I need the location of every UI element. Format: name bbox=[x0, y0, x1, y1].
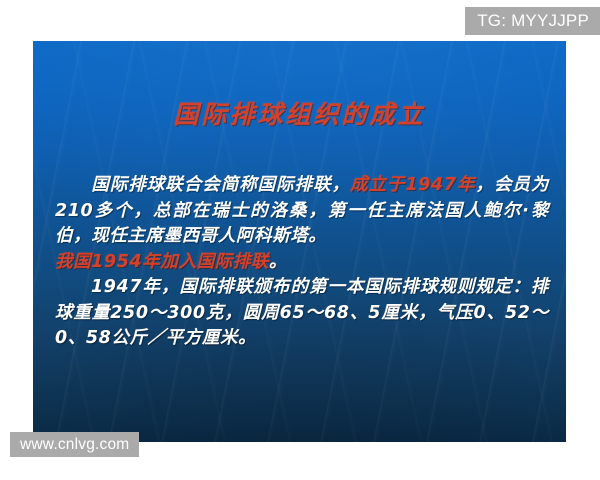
website-watermark: www.cnlvg.com bbox=[10, 432, 139, 457]
slide-content: 国际排球组织的成立 国际排球联合会简称国际排联，成立于1947年，会员为210多… bbox=[33, 41, 566, 442]
screenshot-canvas: 国际排球组织的成立 国际排球联合会简称国际排联，成立于1947年，会员为210多… bbox=[0, 0, 600, 480]
paragraph2-red-text: 我国1954年加入国际排联 bbox=[55, 252, 269, 272]
paragraph-ball-rules: 1947年，国际排联颁布的第一本国际排球规则规定：排球重量250～300克，圆周… bbox=[55, 275, 549, 352]
slide-title: 国际排球组织的成立 bbox=[33, 95, 566, 131]
presentation-slide: 国际排球组织的成立 国际排球联合会简称国际排联，成立于1947年，会员为210多… bbox=[33, 41, 566, 442]
paragraph-federation-info: 国际排球联合会简称国际排联，成立于1947年，会员为210多个，总部在瑞士的洛桑… bbox=[55, 173, 549, 250]
paragraph1-highlight-founding-year: 成立于1947年 bbox=[350, 175, 475, 195]
paragraph2-period: 。 bbox=[269, 252, 287, 272]
paragraph-china-joined: 我国1954年加入国际排联。 bbox=[55, 250, 549, 276]
paragraph3-text: 1947年，国际排联颁布的第一本国际排球规则规定：排球重量250～300克，圆周… bbox=[55, 277, 549, 348]
paragraph1-white-lead: 国际排球联合会简称国际排联， bbox=[91, 175, 350, 195]
slide-body: 国际排球联合会简称国际排联，成立于1947年，会员为210多个，总部在瑞士的洛桑… bbox=[55, 173, 549, 352]
telegram-watermark: TG: MYYJJPP bbox=[465, 7, 600, 35]
